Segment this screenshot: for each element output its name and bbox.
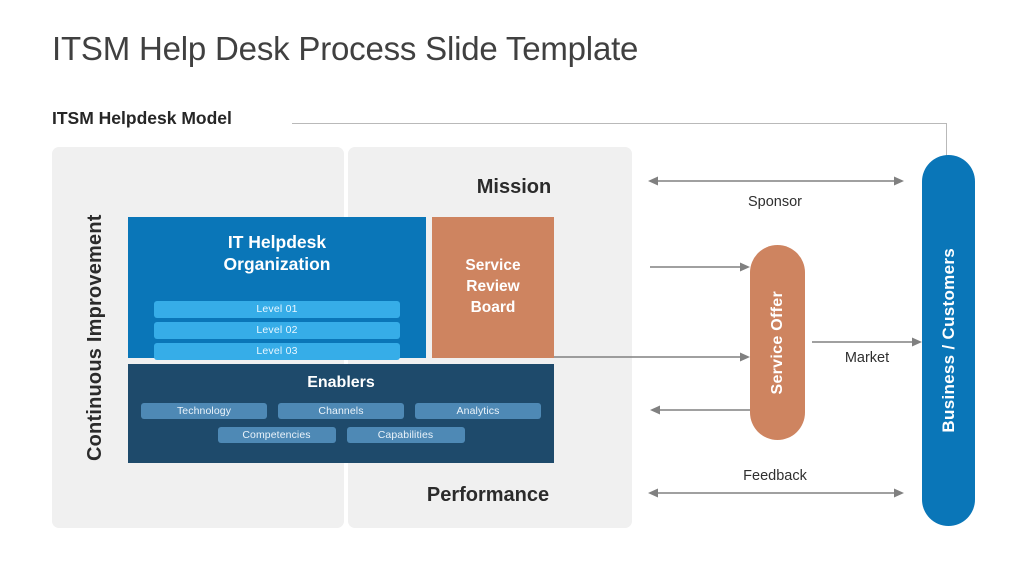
performance-label: Performance (372, 484, 604, 507)
service-review-board-line1: Service (465, 256, 520, 277)
enablers-block[interactable]: Enablers Technology Channels Analytics C… (128, 364, 554, 463)
helpdesk-level-list: Level 01 Level 02 Level 03 (154, 301, 400, 364)
it-helpdesk-title-line1: IT Helpdesk (128, 231, 426, 253)
subtitle-connector-line (292, 123, 947, 124)
business-customers-label: Business / Customers (939, 248, 959, 433)
helpdesk-level-item[interactable]: Level 02 (154, 322, 400, 339)
business-customers-pill[interactable]: Business / Customers (922, 155, 975, 526)
sponsor-label: Sponsor (650, 194, 900, 210)
enablers-row-1: Technology Channels Analytics (128, 403, 554, 419)
service-offer-pill[interactable]: Service Offer (750, 245, 805, 440)
feedback-label: Feedback (650, 468, 900, 484)
feedback-arrow-icon (648, 487, 904, 499)
enabler-chip[interactable]: Channels (278, 403, 404, 419)
continuous-improvement-label: Continuous Improvement (84, 205, 107, 470)
market-label: Market (812, 350, 922, 366)
service-offer-label: Service Offer (769, 291, 787, 395)
page-title: ITSM Help Desk Process Slide Template (52, 30, 638, 68)
section-subtitle: ITSM Helpdesk Model (52, 108, 232, 129)
enabler-chip[interactable]: Capabilities (347, 427, 465, 443)
mission-label: Mission (398, 176, 630, 199)
enablers-row-2: Competencies Capabilities (128, 427, 554, 443)
market-arrow-icon (812, 336, 922, 348)
service-review-board-title: Service Review Board (465, 256, 520, 318)
service-review-board-line2: Review (465, 277, 520, 298)
mission-to-service-offer-arrow-icon (650, 261, 750, 273)
helpdesk-level-item[interactable]: Level 01 (154, 301, 400, 318)
enablers-to-service-offer-arrow-icon (554, 351, 750, 363)
service-review-board-line3: Board (465, 298, 520, 319)
it-helpdesk-organization-block[interactable]: IT Helpdesk Organization Level 01 Level … (128, 217, 426, 358)
enabler-chip[interactable]: Technology (141, 403, 267, 419)
slide-canvas: ITSM Help Desk Process Slide Template IT… (0, 0, 1024, 576)
sponsor-arrow-icon (648, 175, 904, 187)
it-helpdesk-title: IT Helpdesk Organization (128, 231, 426, 276)
it-helpdesk-title-line2: Organization (128, 253, 426, 275)
service-offer-return-arrow-icon (650, 404, 750, 416)
enabler-chip[interactable]: Competencies (218, 427, 336, 443)
subtitle-connector-elbow (946, 123, 947, 158)
enabler-chip[interactable]: Analytics (415, 403, 541, 419)
service-review-board-block[interactable]: Service Review Board (432, 217, 554, 358)
helpdesk-level-item[interactable]: Level 03 (154, 343, 400, 360)
enablers-title: Enablers (128, 374, 554, 392)
